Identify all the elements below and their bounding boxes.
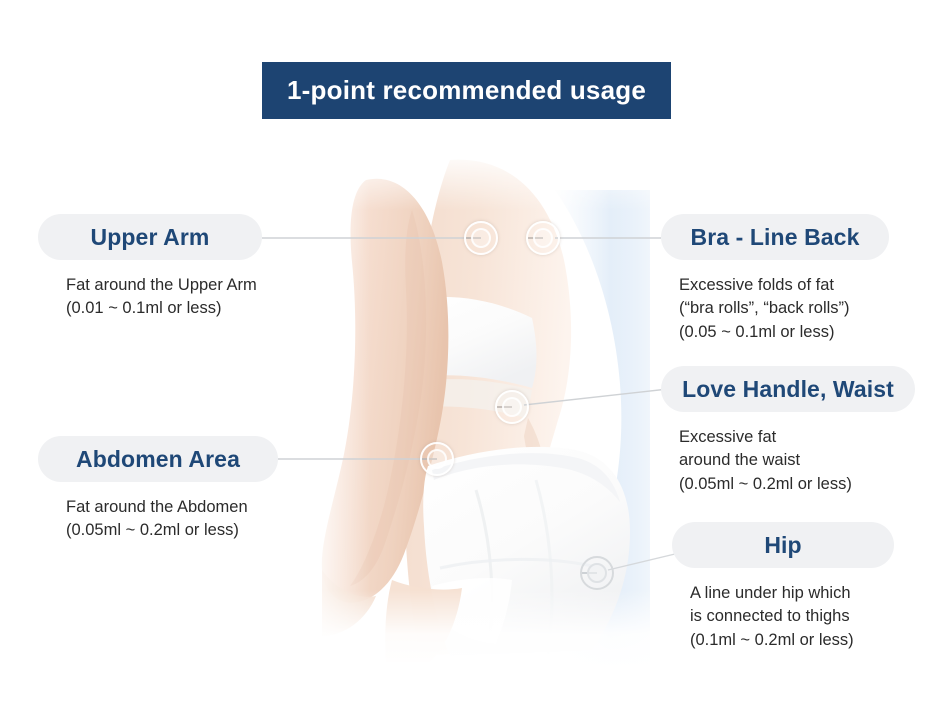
callout-label: Abdomen Area: [76, 446, 240, 473]
callout-description-love-handle: Excessive fat around the waist (0.05ml ~…: [661, 426, 915, 496]
description-line: A line under hip which: [690, 582, 894, 605]
callout-pill-abdomen[interactable]: Abdomen Area: [38, 436, 278, 482]
callout-description-hip: A line under hip which is connected to t…: [672, 582, 894, 652]
description-line: Fat around the Upper Arm: [66, 274, 262, 297]
marker-ring-inner: [533, 228, 553, 248]
callout-hip: Hip A line under hip which is connected …: [672, 522, 894, 652]
marker-ring-inner: [587, 563, 607, 583]
description-line: around the waist: [679, 449, 915, 472]
description-line: Fat around the Abdomen: [66, 496, 278, 519]
description-line: (0.05 ~ 0.1ml or less): [679, 321, 889, 344]
marker-upper-arm[interactable]: [464, 221, 498, 255]
callout-description-abdomen: Fat around the Abdomen (0.05ml ~ 0.2ml o…: [38, 496, 278, 543]
infographic-root: 1-point recommended usage: [0, 0, 926, 716]
callout-pill-love-handle[interactable]: Love Handle, Waist: [661, 366, 915, 412]
callout-description-upper-arm: Fat around the Upper Arm (0.01 ~ 0.1ml o…: [38, 274, 262, 321]
marker-ring-inner: [471, 228, 491, 248]
callout-label: Bra - Line Back: [691, 224, 860, 251]
callout-upper-arm: Upper Arm Fat around the Upper Arm (0.01…: [38, 214, 262, 321]
marker-ring-inner: [502, 397, 522, 417]
description-line: (0.01 ~ 0.1ml or less): [66, 297, 262, 320]
description-line: Excessive folds of fat: [679, 274, 889, 297]
callout-label: Love Handle, Waist: [682, 376, 894, 403]
callout-description-bra-line: Excessive folds of fat (“bra rolls”, “ba…: [661, 274, 889, 344]
marker-ring-inner: [427, 449, 447, 469]
marker-abdomen[interactable]: [420, 442, 454, 476]
page-title-banner: 1-point recommended usage: [262, 62, 671, 119]
description-line: (0.1ml ~ 0.2ml or less): [690, 629, 894, 652]
marker-hip[interactable]: [580, 556, 614, 590]
callout-label: Hip: [764, 532, 801, 559]
callout-label: Upper Arm: [91, 224, 210, 251]
description-line: is connected to thighs: [690, 605, 894, 628]
callout-bra-line: Bra - Line Back Excessive folds of fat (…: [661, 214, 889, 344]
callout-pill-bra-line[interactable]: Bra - Line Back: [661, 214, 889, 260]
callout-love-handle: Love Handle, Waist Excessive fat around …: [661, 366, 915, 496]
marker-love-handle[interactable]: [495, 390, 529, 424]
description-line: (“bra rolls”, “back rolls”): [679, 297, 889, 320]
description-line: (0.05ml ~ 0.2ml or less): [679, 473, 915, 496]
description-line: (0.05ml ~ 0.2ml or less): [66, 519, 278, 542]
callout-pill-hip[interactable]: Hip: [672, 522, 894, 568]
callout-abdomen: Abdomen Area Fat around the Abdomen (0.0…: [38, 436, 278, 543]
marker-bra-line[interactable]: [526, 221, 560, 255]
description-line: Excessive fat: [679, 426, 915, 449]
page-title: 1-point recommended usage: [287, 75, 646, 106]
callout-pill-upper-arm[interactable]: Upper Arm: [38, 214, 262, 260]
